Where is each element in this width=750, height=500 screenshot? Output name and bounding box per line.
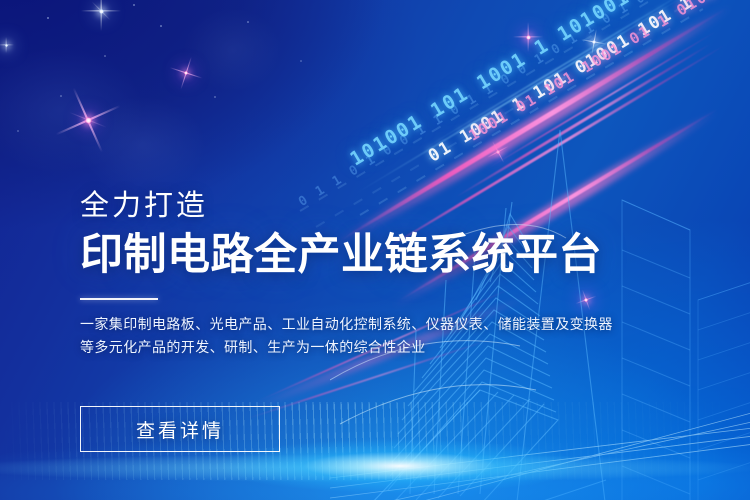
hero-banner: 0 1 1 0 1 0 0 1 1 0 1 1 0 0 1 0 1 1 0 1 … xyxy=(0,0,750,500)
view-details-button[interactable]: 查看详情 xyxy=(80,406,280,452)
description-line-2: 等多元化产品的开发、研制、生产为一体的综合性企业 xyxy=(80,336,550,359)
description-text: 一家集印制电路板、光电产品、工业自动化控制系统、仪器仪表、储能装置及变换器 等多… xyxy=(80,313,550,359)
eyebrow-text: 全力打造 xyxy=(80,192,700,221)
title-divider xyxy=(80,298,158,300)
page-title: 印制电路全产业链系统平台 xyxy=(80,234,700,277)
description-line-1: 一家集印制电路板、光电产品、工业自动化控制系统、仪器仪表、储能装置及变换器 xyxy=(80,313,550,336)
hero-content: 全力打造 印制电路全产业链系统平台 一家集印制电路板、光电产品、工业自动化控制系… xyxy=(80,192,700,359)
